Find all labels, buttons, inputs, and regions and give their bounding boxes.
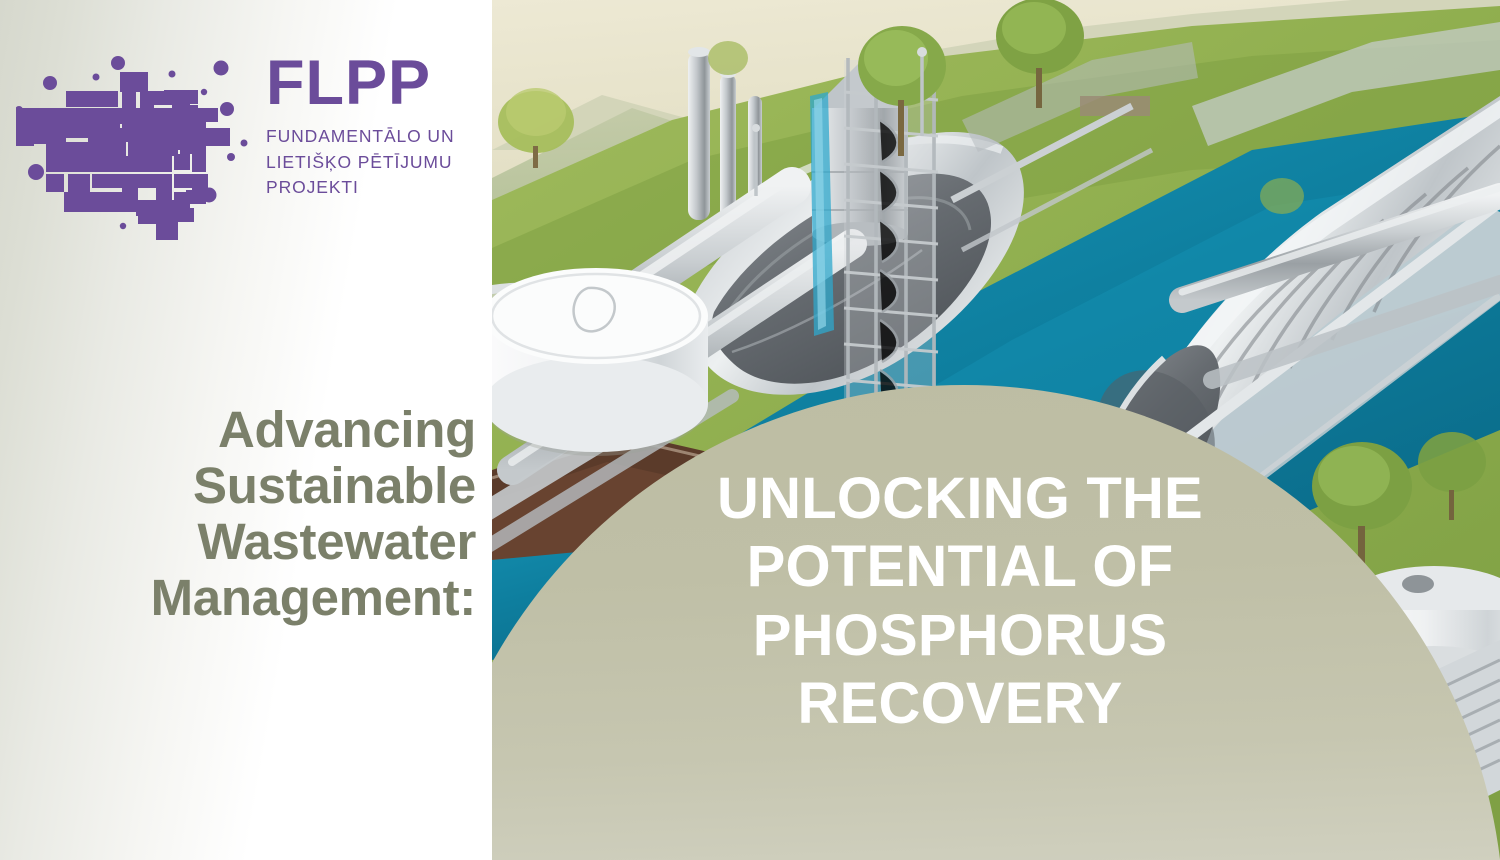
- flpp-subtitle-line-1: FUNDAMENTĀLO UN: [266, 124, 476, 150]
- slide-subtitle-line-2: Sustainable: [0, 458, 476, 514]
- flpp-logo-mark-icon: [16, 50, 254, 240]
- flpp-subtitle-line-2: LIETIŠĶO PĒTĪJUMU: [266, 150, 476, 176]
- slide-main-title-line-1: UNLOCKING THE: [620, 465, 1300, 533]
- slide-main-title-line-2: POTENTIAL OF: [620, 533, 1300, 601]
- slide-subtitle-line-3: Wastewater: [0, 514, 476, 570]
- flpp-subtitle-line-3: PROJEKTI: [266, 175, 476, 201]
- slide-subtitle-line-1: Advancing: [0, 402, 476, 458]
- flpp-logo: FLPP FUNDAMENTĀLO UN LIETIŠĶO PĒTĪJUMU P…: [16, 50, 476, 240]
- flpp-logo-text: FLPP FUNDAMENTĀLO UN LIETIŠĶO PĒTĪJUMU P…: [266, 54, 476, 201]
- flpp-subtitle: FUNDAMENTĀLO UN LIETIŠĶO PĒTĪJUMU PROJEK…: [266, 124, 476, 201]
- slide-main-title: UNLOCKING THE POTENTIAL OF PHOSPHORUS RE…: [620, 465, 1300, 739]
- slide-main-title-line-3: PHOSPHORUS: [620, 602, 1300, 670]
- flpp-acronym: FLPP: [266, 54, 476, 114]
- slide-subtitle-line-4: Management:: [0, 570, 476, 626]
- presentation-slide: FLPP FUNDAMENTĀLO UN LIETIŠĶO PĒTĪJUMU P…: [0, 0, 1500, 860]
- pixel-mosaic-icon: [16, 50, 254, 240]
- slide-main-title-line-4: RECOVERY: [620, 670, 1300, 738]
- slide-subtitle: Advancing Sustainable Wastewater Managem…: [0, 402, 484, 626]
